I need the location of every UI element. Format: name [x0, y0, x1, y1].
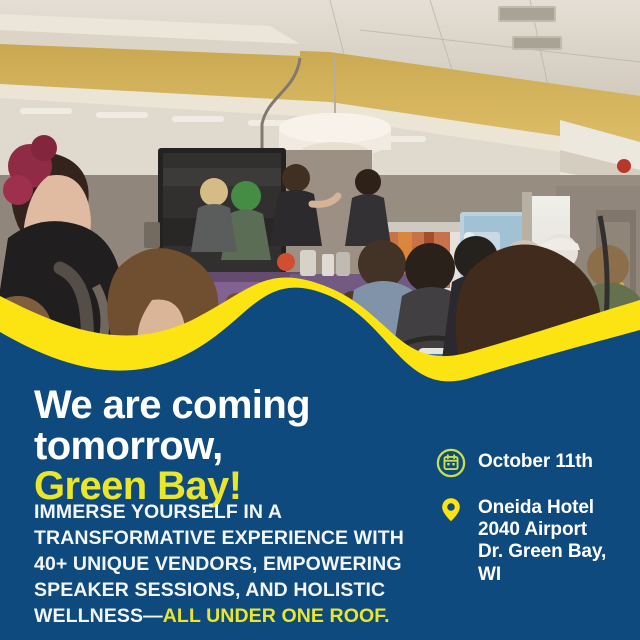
map-pin-icon	[436, 494, 466, 524]
headline-line-2: tomorrow,	[34, 424, 223, 468]
calendar-icon	[436, 448, 466, 478]
venue-line-2: 2040 Airport	[478, 519, 606, 541]
event-details: October 11th Oneida Hotel 2040 Airport D…	[436, 450, 626, 602]
venue-line-4: WI	[478, 564, 606, 586]
event-date-row: October 11th	[436, 450, 626, 480]
venue-line-3: Dr. Green Bay,	[478, 541, 606, 563]
venue-line-1: Oneida Hotel	[478, 497, 606, 519]
body-copy-highlight: ALL UNDER ONE ROOF.	[163, 605, 390, 627]
page-title: We are coming tomorrow, Green Bay!	[34, 385, 394, 507]
event-date: October 11th	[478, 450, 593, 473]
event-venue-row: Oneida Hotel 2040 Airport Dr. Green Bay,…	[436, 496, 626, 586]
body-copy: IMMERSE YOURSELF IN A TRANSFORMATIVE EXP…	[34, 499, 406, 630]
headline-line-1: We are coming	[34, 383, 310, 427]
event-venue-address: Oneida Hotel 2040 Airport Dr. Green Bay,…	[478, 496, 606, 586]
poster-content: We are coming tomorrow, Green Bay! IMMER…	[0, 0, 640, 640]
event-promo-poster: We are coming tomorrow, Green Bay! IMMER…	[0, 0, 640, 640]
